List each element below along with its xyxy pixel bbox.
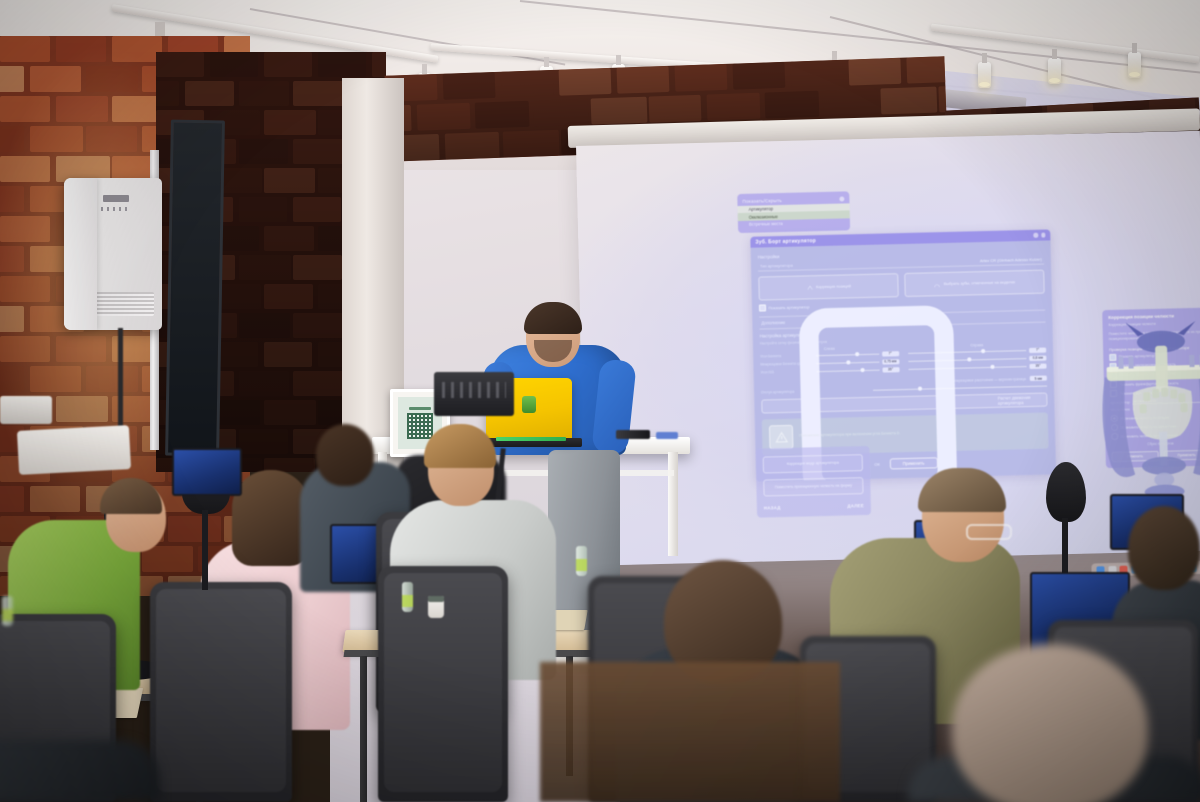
presenter-phone[interactable] [616, 430, 650, 439]
param-0-right-value[interactable]: 7° [1029, 347, 1046, 352]
window-frame [165, 120, 225, 457]
spotlight-6 [1048, 58, 1061, 84]
ac-display [103, 195, 128, 203]
wizard-left-panel[interactable]: Коррекция модр артикулятора Поместить пр… [755, 446, 871, 518]
water-bottle-center [576, 546, 587, 576]
param-1-right-value[interactable]: 0,8 мм [1029, 355, 1046, 360]
spotlight-5 [978, 62, 991, 88]
arch-icon [934, 281, 941, 288]
calculate-movement-button[interactable]: Расчет движения артикулятора [761, 393, 1047, 414]
attendee-front-left-shoulder [0, 740, 160, 802]
wizard-button-1[interactable]: Коррекция модр артикулятора [763, 454, 863, 473]
floor [540, 662, 840, 802]
wizard-back-button[interactable]: НАЗАД [764, 505, 781, 510]
chair-left-mid [150, 582, 292, 802]
attendee-8-head [952, 644, 1148, 802]
dialog-window-controls[interactable] [1033, 233, 1045, 238]
positions-icon [806, 284, 813, 291]
wide-param-value[interactable]: 5 мм [1030, 376, 1047, 381]
wall-air-purifier [64, 178, 162, 330]
attendee-7-head [1128, 506, 1200, 590]
param-2-right-value[interactable]: 35° [1029, 363, 1046, 368]
tree-close-icon[interactable] [839, 196, 844, 201]
dialog-title: Зуб. Борт артикулятор [755, 238, 816, 245]
monitor-left-top [172, 448, 242, 496]
dental-articulator-3d-model[interactable] [1085, 312, 1200, 506]
laptop-rgb-strip [496, 437, 566, 441]
dialog-close-icon[interactable] [1041, 233, 1046, 238]
articulator-settings-dialog[interactable]: Зуб. Борт артикулятор Настройки Тип арти… [750, 229, 1056, 481]
show-hide-tree-panel[interactable]: Показать/Скрыть Артикулятор Окклюзионные… [737, 191, 850, 233]
attendee-3-head [316, 424, 374, 486]
dialog-body: Настройки Тип артикулятора Artex CR (Gir… [751, 240, 1057, 481]
wizard-next-button[interactable]: ДАЛЕЕ [847, 503, 864, 508]
wizard-navigation: НАЗАД ДАЛЕЕ [764, 500, 864, 510]
wall-panel-left [17, 425, 131, 475]
training-room-photo: Показать/Скрыть Артикулятор Окклюзионные… [0, 0, 1200, 802]
attendee-2-hair [232, 470, 310, 566]
water-bottle-far-left [2, 596, 13, 626]
warning-triangle-icon [769, 425, 794, 450]
dialog-ok-button[interactable]: ОК [874, 462, 880, 467]
dialog-help-icon[interactable] [1033, 233, 1038, 238]
qr-code-icon [407, 413, 433, 439]
attendee-6-glasses [966, 524, 1012, 540]
wall-bracket-left [0, 396, 52, 424]
ac-led-row [95, 207, 128, 212]
tree-panel-title: Показать/Скрыть [742, 197, 782, 203]
desk-center-leg-left [360, 656, 367, 802]
presenter-card [656, 432, 678, 439]
articulator-type-label: Тип артикулятора [760, 263, 793, 269]
coffee-cup-left [428, 596, 444, 618]
desk-lamp-mid-stem [202, 510, 208, 590]
calculate-movement-label: Расчет движения артикулятора [998, 395, 1047, 406]
dialog-apply-button[interactable]: Применить [890, 457, 938, 469]
tree-item-2[interactable]: Встречные места [738, 218, 850, 229]
spotlight-7 [1128, 52, 1141, 78]
water-bottle-left [402, 582, 413, 612]
presenter-desk-leg-right [668, 452, 678, 556]
wizard-button-2[interactable]: Поместить проекционную челюсть на форму [763, 477, 863, 496]
laptop-sticker [522, 396, 536, 413]
mixer-knobs [442, 382, 506, 398]
articulator-type-value: Artex CR (Girrbach Adesso Kulzer) [980, 257, 1042, 264]
